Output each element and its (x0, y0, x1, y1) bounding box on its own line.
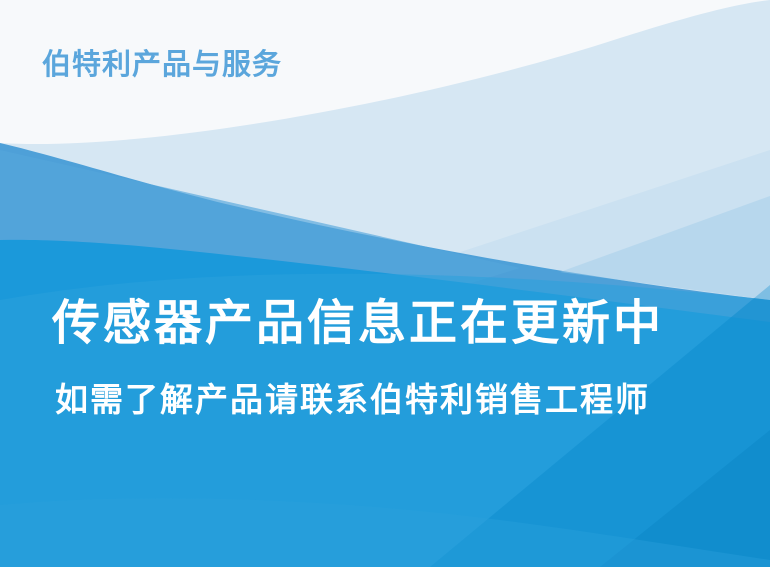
product-service-banner: 伯特利产品与服务 传感器产品信息正在更新中 如需了解产品请联系伯特利销售工程师 (0, 0, 770, 567)
decorative-wave-background (0, 0, 770, 567)
subheadline-text: 如需了解产品请联系伯特利销售工程师 (0, 351, 770, 419)
headline-text: 传感器产品信息正在更新中 (0, 296, 770, 351)
headline-block: 传感器产品信息正在更新中 如需了解产品请联系伯特利销售工程师 (0, 296, 770, 419)
page-title: 伯特利产品与服务 (42, 48, 282, 81)
